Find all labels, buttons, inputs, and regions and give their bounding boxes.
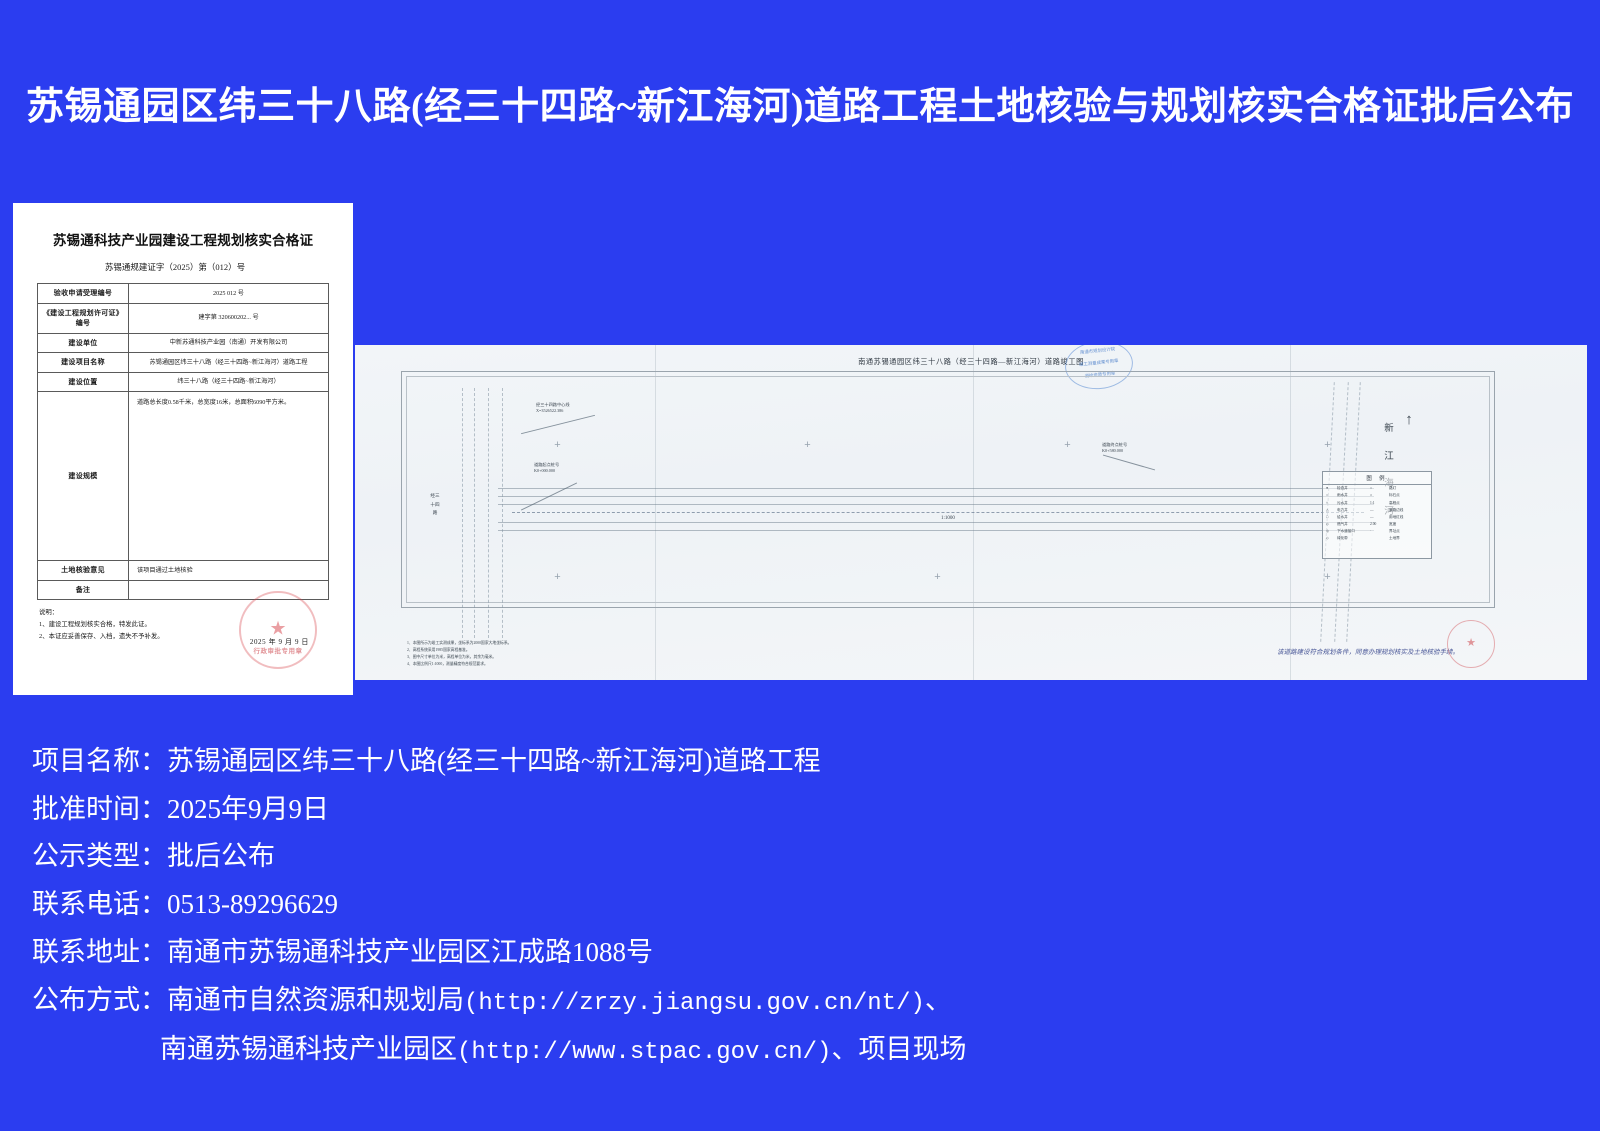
legend-desc: 土地界 bbox=[1389, 536, 1423, 540]
label-notice-type: 公示类型： bbox=[32, 841, 167, 871]
row-value: 该项目通过土地核验 bbox=[129, 561, 329, 581]
legend-code: · bbox=[1370, 529, 1386, 533]
row-value: 中新苏通科技产业园（南通）开发有限公司 bbox=[129, 333, 329, 353]
seal-star-icon: ★ bbox=[269, 620, 286, 639]
cross-road-line bbox=[488, 388, 489, 638]
stamp-line: 竣工测量成果专用章 bbox=[1066, 357, 1132, 370]
survey-cross-icon: + bbox=[1062, 440, 1073, 451]
annotation-note: 道路终点桩号 K0+580.000 bbox=[1102, 442, 1127, 455]
legend-code: — bbox=[1370, 508, 1386, 512]
legend-symbol: ◇ bbox=[1326, 536, 1334, 540]
road-edge-line bbox=[498, 522, 1374, 523]
survey-cross-icon: + bbox=[552, 440, 563, 451]
drawing-red-seal: ★ bbox=[1447, 620, 1495, 668]
legend-code: 2.00 bbox=[1370, 522, 1386, 526]
legend-row: × 污水井 1:1 高程点 bbox=[1323, 499, 1431, 506]
legend-symbol: △ bbox=[1326, 508, 1334, 512]
label-phone: 联系电话： bbox=[32, 889, 167, 919]
certificate-number: 苏锡通规建证字（2025）第（012）号 bbox=[13, 261, 353, 273]
legend-box: 图 例 ● 检查井 ○ 路灯 ○ 雨水井 ⌂ 标石点 × 污水井 1:1 高程点… bbox=[1322, 471, 1432, 559]
certificate-document: 苏锡通科技产业园建设工程规划核实合格证 苏锡通规建证字（2025）第（012）号… bbox=[13, 203, 353, 695]
survey-cross-icon: + bbox=[932, 572, 943, 583]
certificate-table: 验收申请受理编号 2025 012 号 《建设工程规划许可证》编号 建字第 32… bbox=[37, 283, 329, 600]
table-row: 建设单位 中新苏通科技产业园（南通）开发有限公司 bbox=[38, 333, 329, 353]
row-label: 建设规模 bbox=[38, 392, 129, 561]
legend-name: 给水井 bbox=[1337, 515, 1367, 519]
publish-url-2[interactable]: (http://www.stpac.gov.cn/) bbox=[457, 1039, 831, 1066]
legend-symbol: ◎ bbox=[1326, 529, 1334, 533]
value-project-name: 苏锡通园区纬三十八路(经三十四路~新江海河)道路工程 bbox=[167, 746, 821, 776]
legend-row: □ 给水井 — 用地红线 bbox=[1323, 513, 1431, 520]
footnote-item: 2、高程系统采用1985国家高程基准。 bbox=[407, 647, 511, 654]
legend-name: 检查井 bbox=[1337, 486, 1367, 490]
legend-desc: 标石点 bbox=[1389, 493, 1423, 497]
legend-symbol: ◇ bbox=[1326, 522, 1334, 526]
legend-desc: 道路边线 bbox=[1389, 508, 1423, 512]
footnote-item: 1、本图所示为竣工实测成果，坐标系为2000国家大地坐标系。 bbox=[407, 640, 511, 647]
legend-name: 绿化带 bbox=[1337, 536, 1367, 540]
info-line-publish-2: 南通苏锡通科技产业园区(http://www.stpac.gov.cn/)、项目… bbox=[32, 1028, 1432, 1073]
footnote-item: 3、图中尺寸单位为米，高程单位为米，其余为毫米。 bbox=[407, 654, 511, 661]
table-row: 建设项目名称 苏锡通园区纬三十八路（经三十四路~新江海河）道路工程 bbox=[38, 353, 329, 373]
certificate-date: 2025 年 9 月 9 日 bbox=[250, 637, 309, 647]
legend-code bbox=[1370, 536, 1386, 540]
legend-code: 1:1 bbox=[1370, 501, 1386, 505]
road-centerline-dashed bbox=[512, 512, 1364, 513]
legend-symbol: ○ bbox=[1326, 493, 1334, 497]
row-label: 验收申请受理编号 bbox=[38, 284, 129, 304]
label-approve-time: 批准时间： bbox=[32, 794, 167, 824]
legend-name: 雨水井 bbox=[1337, 493, 1367, 497]
legend-row: ○ 雨水井 ⌂ 标石点 bbox=[1323, 492, 1431, 499]
legend-name: 下水道接口 bbox=[1337, 529, 1367, 533]
info-line-phone: 联系电话：0513-89296629 bbox=[32, 883, 1432, 927]
table-row: 建设规模 道路总长度0.58千米，总宽度16米，总面积6090平方米。 bbox=[38, 392, 329, 561]
legend-row: ◇ 绿化带 土地界 bbox=[1323, 535, 1431, 542]
annotation-note: 经三十四路中心线 X=3526522.386 bbox=[536, 402, 570, 415]
row-value: 2025 012 号 bbox=[129, 284, 329, 304]
row-value: 苏锡通园区纬三十八路（经三十四路~新江海河）道路工程 bbox=[129, 353, 329, 373]
table-row: 验收申请受理编号 2025 012 号 bbox=[38, 284, 329, 304]
legend-desc: 高程点 bbox=[1389, 501, 1423, 505]
table-row: 土地核验意见 该项目通过土地核验 bbox=[38, 561, 329, 581]
cross-road-line bbox=[502, 388, 503, 638]
seal-star-icon: ★ bbox=[1466, 638, 1476, 649]
value-publish-org-1: 南通市自然资源和规划局 bbox=[167, 985, 464, 1015]
value-address: 南通市苏锡通科技产业园区江成路1088号 bbox=[167, 937, 653, 967]
drawing-frame: + + + + + + + 经三十四路中心线 X=3526522.386 道路起… bbox=[401, 371, 1495, 608]
legend-desc: 用地红线 bbox=[1389, 515, 1423, 519]
survey-cross-icon: + bbox=[1322, 440, 1333, 451]
row-value: 建字第 320600202... 号 bbox=[129, 303, 329, 333]
page-title: 苏锡通园区纬三十八路(经三十四路~新江海河)道路工程土地核验与规划核实合格证批后… bbox=[0, 84, 1600, 132]
road-edge-line bbox=[498, 488, 1374, 489]
info-line-project-name: 项目名称：苏锡通园区纬三十八路(经三十四路~新江海河)道路工程 bbox=[32, 740, 1432, 784]
legend-name: 电力井 bbox=[1337, 508, 1367, 512]
label-project-name: 项目名称： bbox=[32, 746, 167, 776]
info-line-notice-type: 公示类型：批后公布 bbox=[32, 835, 1432, 879]
legend-row: △ 电力井 — 道路边线 bbox=[1323, 506, 1431, 513]
row-value: 纬三十八路（经三十四路~新江海河） bbox=[129, 372, 329, 392]
info-line-address: 联系地址：南通市苏锡通科技产业园区江成路1088号 bbox=[32, 931, 1432, 975]
annotation-line: X=3526522.386 bbox=[536, 408, 570, 414]
cross-road-label: 经三十四路 bbox=[430, 492, 440, 518]
road-centerline-band bbox=[498, 504, 1374, 505]
legend-row: ◎ 下水道接口 · 界址点 bbox=[1323, 528, 1431, 535]
publish-url-1[interactable]: (http://zrzy.jiangsu.gov.cn/nt/) bbox=[464, 990, 925, 1017]
legend-code: ⌂ bbox=[1370, 493, 1386, 497]
legend-desc: 界址点 bbox=[1389, 529, 1423, 533]
row-label: 土地核验意见 bbox=[38, 561, 129, 581]
row-label: 《建设工程规划许可证》编号 bbox=[38, 303, 129, 333]
legend-row: ◇ 燃气井 2.00 宽度 bbox=[1323, 520, 1431, 527]
label-address: 联系地址： bbox=[32, 937, 167, 967]
legend-code: ○ bbox=[1370, 486, 1386, 490]
footnote-item: 4、本图比例尺1:1000，测量精度符合规范要求。 bbox=[407, 661, 511, 668]
survey-cross-icon: + bbox=[802, 440, 813, 451]
legend-code: — bbox=[1370, 515, 1386, 519]
label-publish: 公布方式： bbox=[32, 985, 167, 1015]
table-row: 《建设工程规划许可证》编号 建字第 320600202... 号 bbox=[38, 303, 329, 333]
road-edge-line bbox=[498, 496, 1374, 497]
value-phone: 0513-89296629 bbox=[167, 889, 338, 919]
value-publish-org-2: 南通苏锡通科技产业园区 bbox=[160, 1034, 457, 1064]
road-edge-line bbox=[498, 530, 1374, 531]
publish-sep-1: 、 bbox=[925, 985, 952, 1015]
publication-info-block: 项目名称：苏锡通园区纬三十八路(经三十四路~新江海河)道路工程 批准时间：202… bbox=[32, 740, 1432, 1076]
legend-name: 污水井 bbox=[1337, 501, 1367, 505]
handwritten-approval-note: 该道路建设符合规划条件，同意办理规划核实及土地核验手续。 bbox=[1277, 646, 1459, 656]
annotation-line: K0+580.000 bbox=[1102, 448, 1127, 454]
official-red-seal: ★ 行政审批专用章 bbox=[239, 591, 317, 669]
legend-symbol: □ bbox=[1326, 515, 1334, 519]
annotation-note: 道路起点桩号 K0+000.000 bbox=[534, 462, 559, 475]
legend-symbol: ● bbox=[1326, 486, 1334, 490]
cross-road-line bbox=[462, 388, 463, 638]
legend-symbol: × bbox=[1326, 501, 1334, 505]
legend-title: 图 例 bbox=[1323, 472, 1431, 485]
table-row: 建设位置 纬三十八路（经三十四路~新江海河） bbox=[38, 372, 329, 392]
legend-row: ● 检查井 ○ 路灯 bbox=[1323, 485, 1431, 492]
value-approve-time: 2025年9月9日 bbox=[167, 794, 329, 824]
publish-sep-2: 、项目现场 bbox=[831, 1034, 966, 1064]
annotation-line: K0+000.000 bbox=[534, 468, 559, 474]
value-notice-type: 批后公布 bbox=[167, 841, 275, 871]
construction-drawing-panel: 南通苏锡通园区纬三十八路（经三十四路—新江海河）道路竣工图 南通市规划设计院 竣… bbox=[355, 345, 1587, 680]
info-line-publish: 公布方式：南通市自然资源和规划局(http://zrzy.jiangsu.gov… bbox=[32, 979, 1432, 1024]
north-arrow-icon: ↑ bbox=[1402, 412, 1416, 427]
stamp-line: 南通市规划设计院 bbox=[1064, 345, 1130, 358]
row-value: 道路总长度0.58千米，总宽度16米，总面积6090平方米。 bbox=[129, 392, 329, 561]
legend-desc: 宽度 bbox=[1389, 522, 1423, 526]
survey-cross-icon: + bbox=[1322, 572, 1333, 583]
drawing-title: 南通苏锡通园区纬三十八路（经三十四路—新江海河）道路竣工图 bbox=[355, 357, 1587, 367]
info-line-approve-time: 批准时间：2025年9月9日 bbox=[32, 788, 1432, 832]
legend-desc: 路灯 bbox=[1389, 486, 1423, 490]
survey-cross-icon: + bbox=[552, 572, 563, 583]
legend-name: 燃气井 bbox=[1337, 522, 1367, 526]
row-label: 建设位置 bbox=[38, 372, 129, 392]
cross-road-line bbox=[474, 388, 475, 638]
drawing-footnotes: 1、本图所示为竣工实测成果，坐标系为2000国家大地坐标系。 2、高程系统采用1… bbox=[407, 640, 511, 668]
certificate-title: 苏锡通科技产业园建设工程规划核实合格证 bbox=[13, 229, 353, 249]
row-label: 建设单位 bbox=[38, 333, 129, 353]
row-label: 建设项目名称 bbox=[38, 353, 129, 373]
row-label: 备注 bbox=[38, 580, 129, 600]
